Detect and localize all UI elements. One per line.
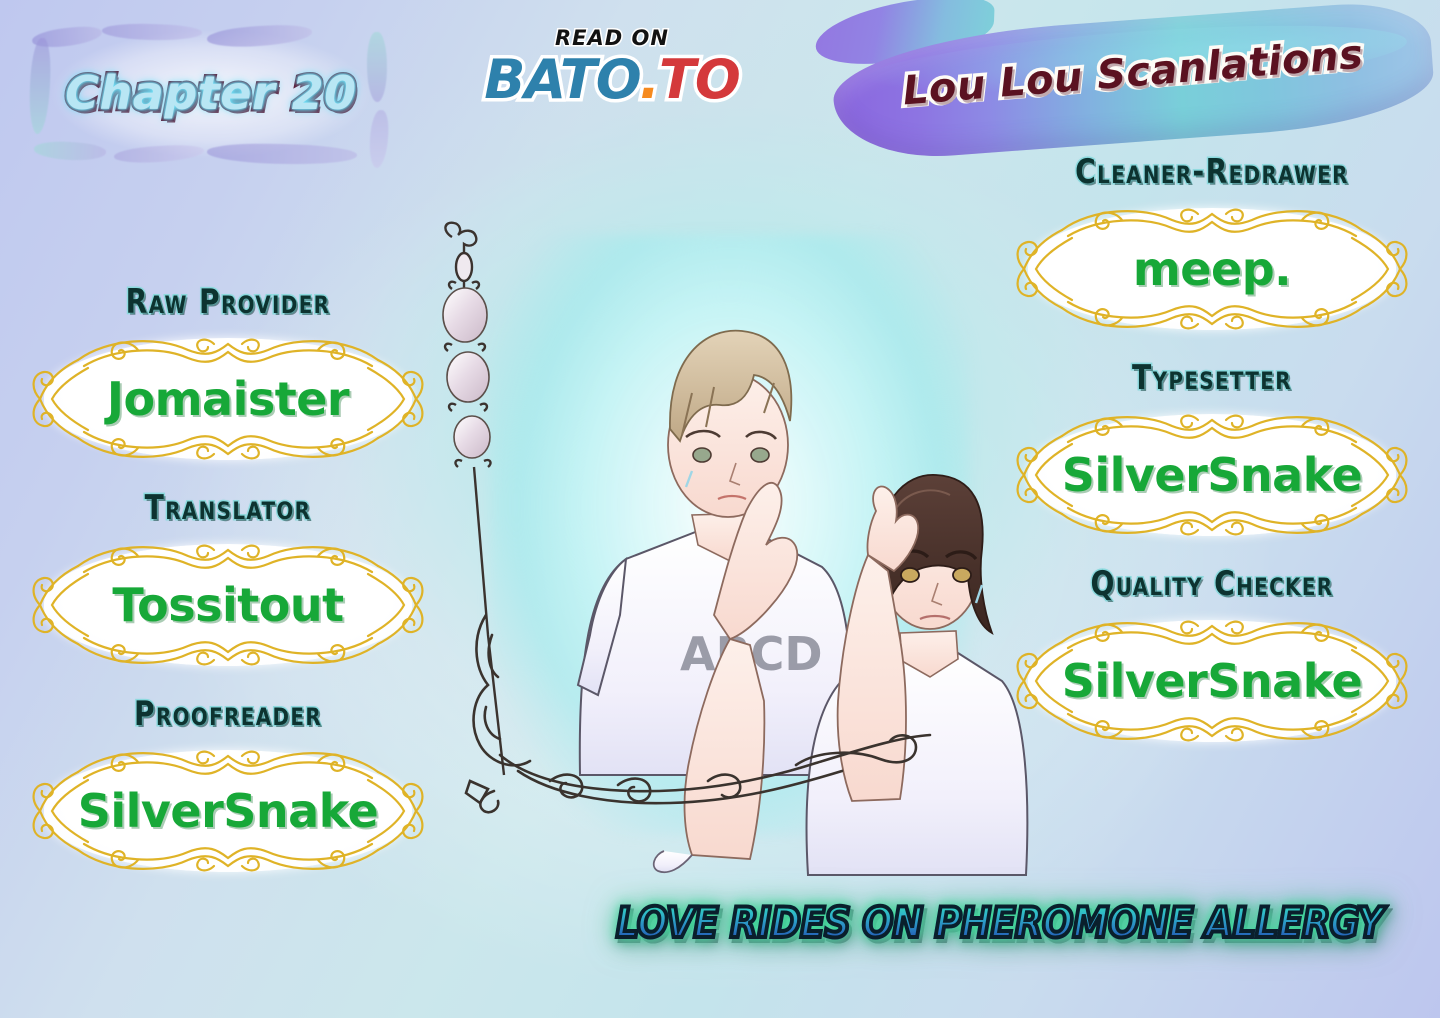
- ornate-hairpin: [443, 223, 504, 775]
- chapter-title: Chapter 20: [22, 66, 400, 120]
- credit-frame: Tossitout: [18, 530, 438, 680]
- credit-frame: SilverSnake: [1002, 400, 1422, 550]
- credit-member-name: Jomaister: [107, 372, 349, 426]
- batoto-brand-bato: BATO: [484, 48, 639, 111]
- character-right: [807, 475, 1028, 875]
- credit-frame: SilverSnake: [1002, 606, 1422, 756]
- credit-block-quality-checker: Quality Checker: [1002, 564, 1422, 756]
- credit-member-name: SilverSnake: [1062, 448, 1363, 502]
- credit-role-label: Proofreader: [35, 694, 421, 734]
- cover-illustration: ABCD: [430, 215, 1030, 905]
- chapter-plaque: Chapter 20: [22, 18, 400, 170]
- illustration-artwork: ABCD: [430, 215, 1030, 905]
- credit-block-typesetter: Typesetter: [1002, 358, 1422, 550]
- credits-column-right: Cleaner-Redrawer: [1002, 152, 1422, 770]
- credit-member-name: meep.: [1133, 242, 1291, 296]
- series-title-text: LOVE RIDES ON PHEROMONE ALLERGY: [616, 898, 1383, 947]
- credit-block-cleaner-redrawer: Cleaner-Redrawer: [1002, 152, 1422, 344]
- credit-member-name: SilverSnake: [78, 784, 379, 838]
- credit-member-name: SilverSnake: [1062, 654, 1363, 708]
- credit-block-translator: Translator: [18, 488, 438, 680]
- credit-role-label: Cleaner-Redrawer: [1019, 152, 1405, 192]
- batoto-brand-dot: .: [640, 48, 660, 111]
- batoto-brand-to: TO: [659, 48, 740, 111]
- credit-frame: Jomaister: [18, 324, 438, 474]
- credit-member-name: Tossitout: [112, 578, 343, 632]
- credits-column-left: Raw Provider: [18, 282, 438, 900]
- credit-role-label: Typesetter: [1019, 358, 1405, 398]
- series-title: LOVE RIDES ON PHEROMONE ALLERGY: [600, 898, 1390, 947]
- credit-role-label: Quality Checker: [1019, 564, 1405, 604]
- credit-role-label: Raw Provider: [35, 282, 421, 322]
- credit-block-proofreader: Proofreader: [18, 694, 438, 886]
- credit-block-raw-provider: Raw Provider: [18, 282, 438, 474]
- credit-frame: SilverSnake: [18, 736, 438, 886]
- credit-role-label: Translator: [35, 488, 421, 528]
- read-on-label: READ ON: [472, 26, 752, 50]
- batoto-logo[interactable]: READ ON BATO.TO: [472, 26, 752, 109]
- scanlation-group-banner: Lou Lou Scanlations: [805, 0, 1440, 165]
- batoto-wordmark: BATO.TO: [472, 52, 752, 109]
- credit-frame: meep.: [1002, 194, 1422, 344]
